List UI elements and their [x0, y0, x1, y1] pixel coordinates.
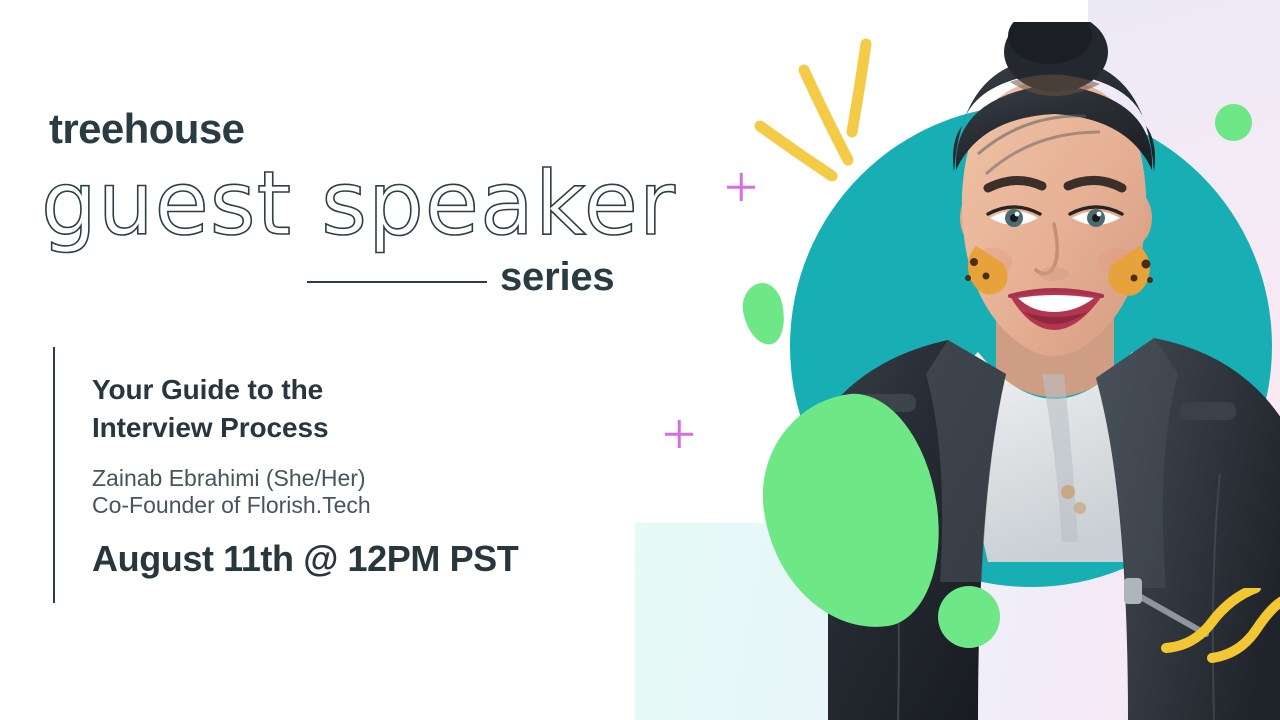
- series-divider-rule: [307, 281, 487, 283]
- speaker-role: Co-Founder of Florish.Tech: [92, 489, 371, 522]
- session-title-line-2: Interview Process: [92, 409, 512, 447]
- session-title: Your Guide to the Interview Process: [92, 371, 512, 446]
- plus-mark-upper-icon: [727, 173, 755, 201]
- plus-mark-lower-icon: [665, 420, 693, 448]
- session-title-line-1: Your Guide to the: [92, 371, 512, 409]
- green-dot-bottom-icon: [938, 586, 1000, 648]
- series-label: series: [500, 255, 614, 300]
- session-datetime: August 11th @ 12PM PST: [92, 538, 518, 580]
- guest-speaker-headline: guest speaker: [41, 160, 676, 248]
- yellow-burst-icon: [748, 36, 888, 181]
- promo-slide: treehouse guest speaker series Your Guid…: [0, 0, 1280, 720]
- green-blob-small-icon: [738, 280, 790, 349]
- green-dot-top-right-icon: [1215, 104, 1252, 141]
- treehouse-wordmark: treehouse: [49, 108, 244, 150]
- yellow-waves-icon: [1160, 588, 1280, 720]
- session-block-divider: [53, 347, 55, 603]
